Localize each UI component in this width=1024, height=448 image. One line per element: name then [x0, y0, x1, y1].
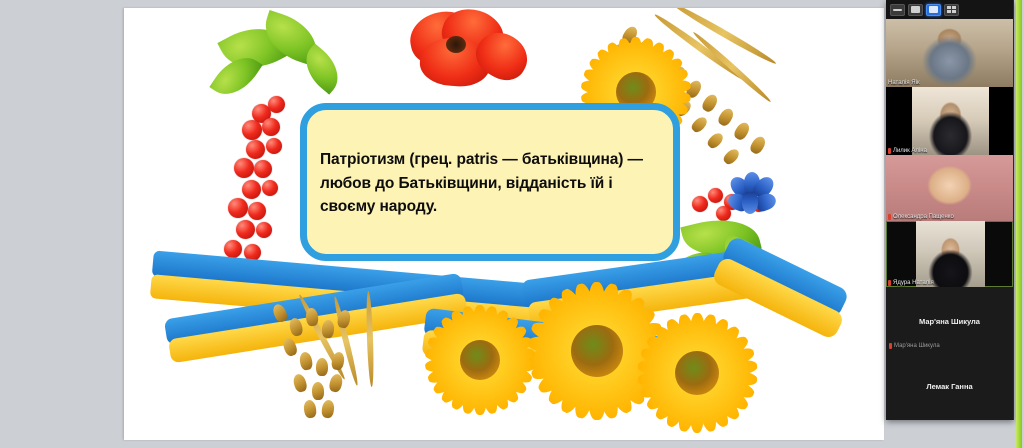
sunflower-petal — [696, 381, 731, 429]
wheat-grain — [748, 134, 768, 156]
cornflower-decoration — [727, 173, 753, 200]
berry-decoration — [234, 158, 254, 178]
wheat-grain — [700, 92, 720, 114]
participant-name-tag: Наталія Яік — [888, 80, 920, 86]
wheat-grain — [321, 320, 334, 339]
wheat-decoration — [365, 291, 374, 387]
participant-display-name: Лемак Ганна — [926, 382, 972, 391]
participant-display-name: Мар'яна Шикула — [919, 317, 980, 326]
cornflower-decoration — [744, 172, 760, 194]
video-feed — [886, 155, 1013, 221]
sunflower-petal — [616, 37, 640, 82]
wheat-grain — [626, 55, 646, 75]
scroll-down-button[interactable] — [886, 417, 1013, 420]
sunflower-petal — [696, 317, 731, 365]
sunflower-petal — [424, 346, 469, 365]
cornflower-decoration — [751, 173, 777, 200]
sunflower-petal — [592, 282, 622, 339]
sunflower-petal — [632, 37, 656, 82]
leaf-decoration — [209, 47, 262, 105]
berry-decoration — [242, 120, 262, 140]
poppy-core — [446, 36, 466, 53]
mic-muted-icon — [888, 214, 891, 220]
wheat-grain — [620, 24, 640, 46]
berry-decoration — [228, 198, 248, 218]
wheat-decoration — [670, 8, 777, 67]
video-feed — [916, 221, 985, 287]
berry-decoration — [254, 160, 272, 178]
ribbon-yellow — [150, 274, 606, 338]
wheat-decoration — [653, 12, 748, 83]
sunflower-petal — [438, 314, 477, 355]
sunflower-petal — [637, 367, 685, 387]
sunflower-petal — [592, 364, 622, 421]
wheat-grain — [271, 302, 289, 323]
berry-decoration — [692, 196, 708, 212]
sunflower-petal — [431, 361, 474, 397]
wheat-grain — [732, 120, 752, 142]
berry-decoration — [266, 138, 282, 154]
sunflower-petal — [693, 313, 719, 362]
berry-decoration — [708, 188, 723, 203]
berry-decoration — [256, 222, 272, 238]
poppy-decoration — [437, 8, 510, 66]
sunflower-petal — [675, 313, 701, 362]
berry-decoration — [248, 202, 266, 220]
wheat-grain — [312, 382, 325, 400]
sunflower-petal — [460, 305, 484, 350]
sunflower-petal — [483, 314, 522, 355]
ribbon-blue — [720, 235, 850, 319]
wheat-decoration — [691, 30, 772, 104]
participant-name-tag: Олександра Пащенко — [888, 214, 954, 220]
sunflower-petal — [663, 317, 698, 365]
sunflower-petal — [572, 282, 602, 339]
wheat-grain — [642, 69, 662, 89]
sunflower-petal — [604, 352, 658, 397]
sunflower-petal — [652, 378, 694, 423]
sunflower-petal — [535, 305, 589, 350]
participant-name: Олександра Пащенко — [893, 214, 954, 220]
presentation-slide[interactable]: Патріотизм (грец. patris — батьківщина) … — [124, 8, 884, 440]
wheat-grain — [658, 83, 678, 103]
sunflower-petal — [476, 305, 500, 350]
wheat-grain — [690, 115, 710, 135]
participant-name: Наталія Яік — [888, 80, 920, 86]
wheat-grain — [722, 147, 742, 167]
leaf-decoration — [257, 10, 325, 66]
sunflower-petal — [535, 352, 589, 397]
cornflower-decoration — [742, 192, 758, 214]
wheat-grain — [684, 78, 704, 100]
grid-icon — [947, 6, 956, 13]
wheat-grain — [299, 351, 314, 371]
sunflower-petal — [486, 323, 529, 359]
sunflower-petal — [580, 78, 625, 97]
sunflower-petal — [483, 364, 522, 405]
sunflower-petal — [476, 370, 500, 415]
sunflower-petal — [588, 282, 605, 336]
leaf-decoration — [680, 210, 761, 267]
sunflower-petal — [639, 46, 678, 87]
wheat-grain — [331, 351, 346, 371]
sunflower-petal — [424, 355, 469, 374]
sunflower-petal — [448, 308, 480, 353]
berry-decoration — [244, 244, 261, 261]
wheat-grain — [336, 309, 351, 329]
sunflower-petal — [491, 355, 536, 374]
grid-view-button[interactable] — [944, 4, 959, 16]
sunflower-petal — [611, 344, 667, 368]
sunflower-petal — [426, 358, 471, 386]
sunflower-petal — [690, 313, 705, 360]
ribbon-blue — [423, 308, 724, 372]
sunflower-petal — [693, 384, 719, 433]
wheat-decoration — [297, 293, 347, 381]
cornflower-decoration — [754, 191, 778, 213]
sunflower-petal — [608, 348, 665, 383]
sunflower-petal — [644, 374, 691, 413]
poppy-decoration — [405, 8, 480, 70]
participant-name: Лилик Аліна — [893, 148, 927, 154]
participant-row-no-video[interactable]: Лемак Ганна — [886, 355, 1013, 417]
screen: Патріотизм (грец. patris — батьківщина) … — [0, 0, 1024, 448]
sunflower-petal — [557, 286, 597, 342]
sunflower-petal — [703, 333, 750, 372]
berry-decoration — [242, 180, 261, 199]
sunflower-petal — [629, 37, 643, 80]
berry-decoration — [262, 118, 280, 136]
video-view-toolbar[interactable] — [886, 0, 1013, 19]
sunflower-petal — [642, 55, 685, 91]
minimize-view-button[interactable] — [890, 4, 905, 16]
sunflower-petal — [644, 333, 691, 372]
sunflower-petal — [700, 323, 742, 368]
sunflower-petal — [700, 378, 742, 423]
sunflower-petal — [557, 360, 597, 416]
sunflower-petal — [652, 323, 694, 368]
ribbon-yellow — [527, 269, 772, 329]
sunflower-petal — [582, 66, 627, 94]
sunflower-petal — [588, 366, 605, 420]
wheat-grain — [668, 64, 688, 86]
sunflower-petal — [527, 344, 583, 368]
participant-tile[interactable]: Лилик Аліна — [886, 87, 1013, 155]
sunflower-petal — [703, 374, 750, 413]
sunflower-petal — [479, 367, 511, 412]
sunflower-petal — [479, 308, 511, 353]
berry-decoration — [724, 194, 740, 210]
participant-name-tag: Ядура Наталія — [888, 280, 934, 286]
video-feed — [886, 19, 1013, 87]
berry-decoration — [752, 198, 766, 212]
berry-decoration — [224, 240, 242, 258]
participant-tile[interactable]: Олександра Пащенко — [886, 155, 1013, 221]
sunflower-petal — [529, 348, 586, 383]
sunflower-decoration — [522, 276, 672, 426]
poppy-decoration — [468, 24, 535, 88]
wheat-grain — [706, 131, 726, 151]
sunflower-petal — [527, 334, 583, 358]
wheat-grain — [321, 399, 335, 418]
sunflower-petal — [489, 334, 534, 362]
participant-name: Ядура Наталія — [893, 280, 934, 286]
participant-name-tag: Лилик Аліна — [888, 148, 927, 154]
sunflower-petal — [486, 361, 529, 397]
wheat-grain — [292, 373, 308, 394]
speaker-view-button[interactable] — [926, 4, 941, 16]
sunflower-petal — [473, 305, 487, 348]
sunflower-petal — [604, 305, 658, 350]
ribbon-yellow — [711, 256, 846, 341]
wheat-grain — [652, 50, 672, 72]
mic-muted-icon — [888, 148, 891, 154]
sunflower-petal — [572, 364, 602, 421]
berry-decoration — [252, 104, 271, 123]
mic-muted-icon — [889, 343, 892, 349]
sunflower-petal — [529, 318, 586, 353]
ribbon-yellow — [168, 293, 468, 364]
sunflower-petal — [448, 367, 480, 412]
sunflower-petal — [491, 346, 536, 365]
sunflower-petal — [426, 334, 471, 362]
sunflower-petal — [604, 40, 636, 85]
leaf-decoration — [217, 14, 292, 82]
berry-decoration — [268, 96, 285, 113]
sunflower-petal — [709, 358, 757, 378]
wheat-grain — [716, 106, 736, 128]
participant-name-tag: Мар'яна Шикула — [889, 343, 940, 349]
sunflower-petal — [587, 55, 630, 91]
sunflower-petal — [473, 372, 487, 415]
berry-decoration — [236, 220, 255, 239]
sunflower-petal — [637, 358, 685, 378]
video-conference-panel[interactable]: Наталія Яік Лилик Аліна Олександра Пащен… — [886, 0, 1014, 420]
sunflower-petal — [438, 364, 477, 405]
berry-decoration — [716, 206, 731, 221]
sunflower-decoration — [420, 300, 540, 420]
wheat-decoration — [332, 296, 360, 387]
sunflower-petal — [596, 360, 636, 416]
wheat-grain — [636, 36, 656, 58]
sunflower-petal — [645, 66, 690, 94]
wheat-grain — [305, 307, 319, 326]
participant-tile-active-speaker[interactable]: Ядура Наталія — [886, 221, 1013, 287]
sunflower-petal — [709, 367, 757, 387]
wheat-grain — [316, 358, 328, 376]
participant-row-no-video[interactable]: Мар'яна Шикула Мар'яна Шикула — [886, 287, 1013, 355]
sunflower-petal — [431, 323, 474, 359]
sunflower-petal — [638, 345, 687, 376]
participant-name: Мар'яна Шикула — [894, 343, 940, 349]
leaf-decoration — [296, 43, 349, 94]
berry-decoration — [738, 184, 752, 198]
sunflower-decoration — [632, 308, 762, 438]
sunflower-petal — [600, 294, 649, 346]
video-feed — [912, 87, 989, 155]
wheat-grain — [303, 399, 317, 418]
slide-caption-text: Патріотизм (грец. patris — батьківщина) … — [320, 148, 670, 219]
wheat-grain — [610, 41, 630, 61]
sunflower-petal — [545, 294, 594, 346]
sunflower-petal — [594, 46, 633, 87]
leaf-decoration — [716, 234, 786, 289]
ribbon-yellow — [422, 329, 729, 392]
participant-tile[interactable]: Наталія Яік — [886, 19, 1013, 87]
mic-muted-icon — [888, 280, 891, 286]
poppy-decoration — [418, 36, 491, 89]
sunflower-petal — [675, 384, 701, 433]
ribbon-blue — [164, 273, 464, 346]
sunflower-petal — [647, 78, 692, 97]
berry-decoration — [246, 140, 265, 159]
sunflower-petal — [707, 345, 756, 376]
wheat-grain — [281, 336, 298, 357]
sunflower-petal — [611, 334, 667, 358]
sunflower-petal — [460, 370, 484, 415]
sunflower-petal — [690, 386, 705, 433]
sunflower-petal — [600, 357, 649, 409]
accent-green-border — [1016, 0, 1022, 448]
sunflower-petal — [489, 358, 534, 386]
wheat-grain — [328, 373, 344, 393]
wheat-grain — [288, 317, 304, 337]
single-view-button[interactable] — [908, 4, 923, 16]
sunflower-petal — [663, 381, 698, 429]
cornflower-decoration — [726, 191, 750, 213]
sunflower-petal — [707, 371, 756, 402]
sunflower-petal — [596, 286, 636, 342]
sunflower-petal — [638, 371, 687, 402]
berry-decoration — [262, 180, 278, 196]
sunflower-petal — [635, 40, 667, 85]
sunflower-petal — [545, 357, 594, 409]
sunflower-petal — [608, 318, 665, 353]
